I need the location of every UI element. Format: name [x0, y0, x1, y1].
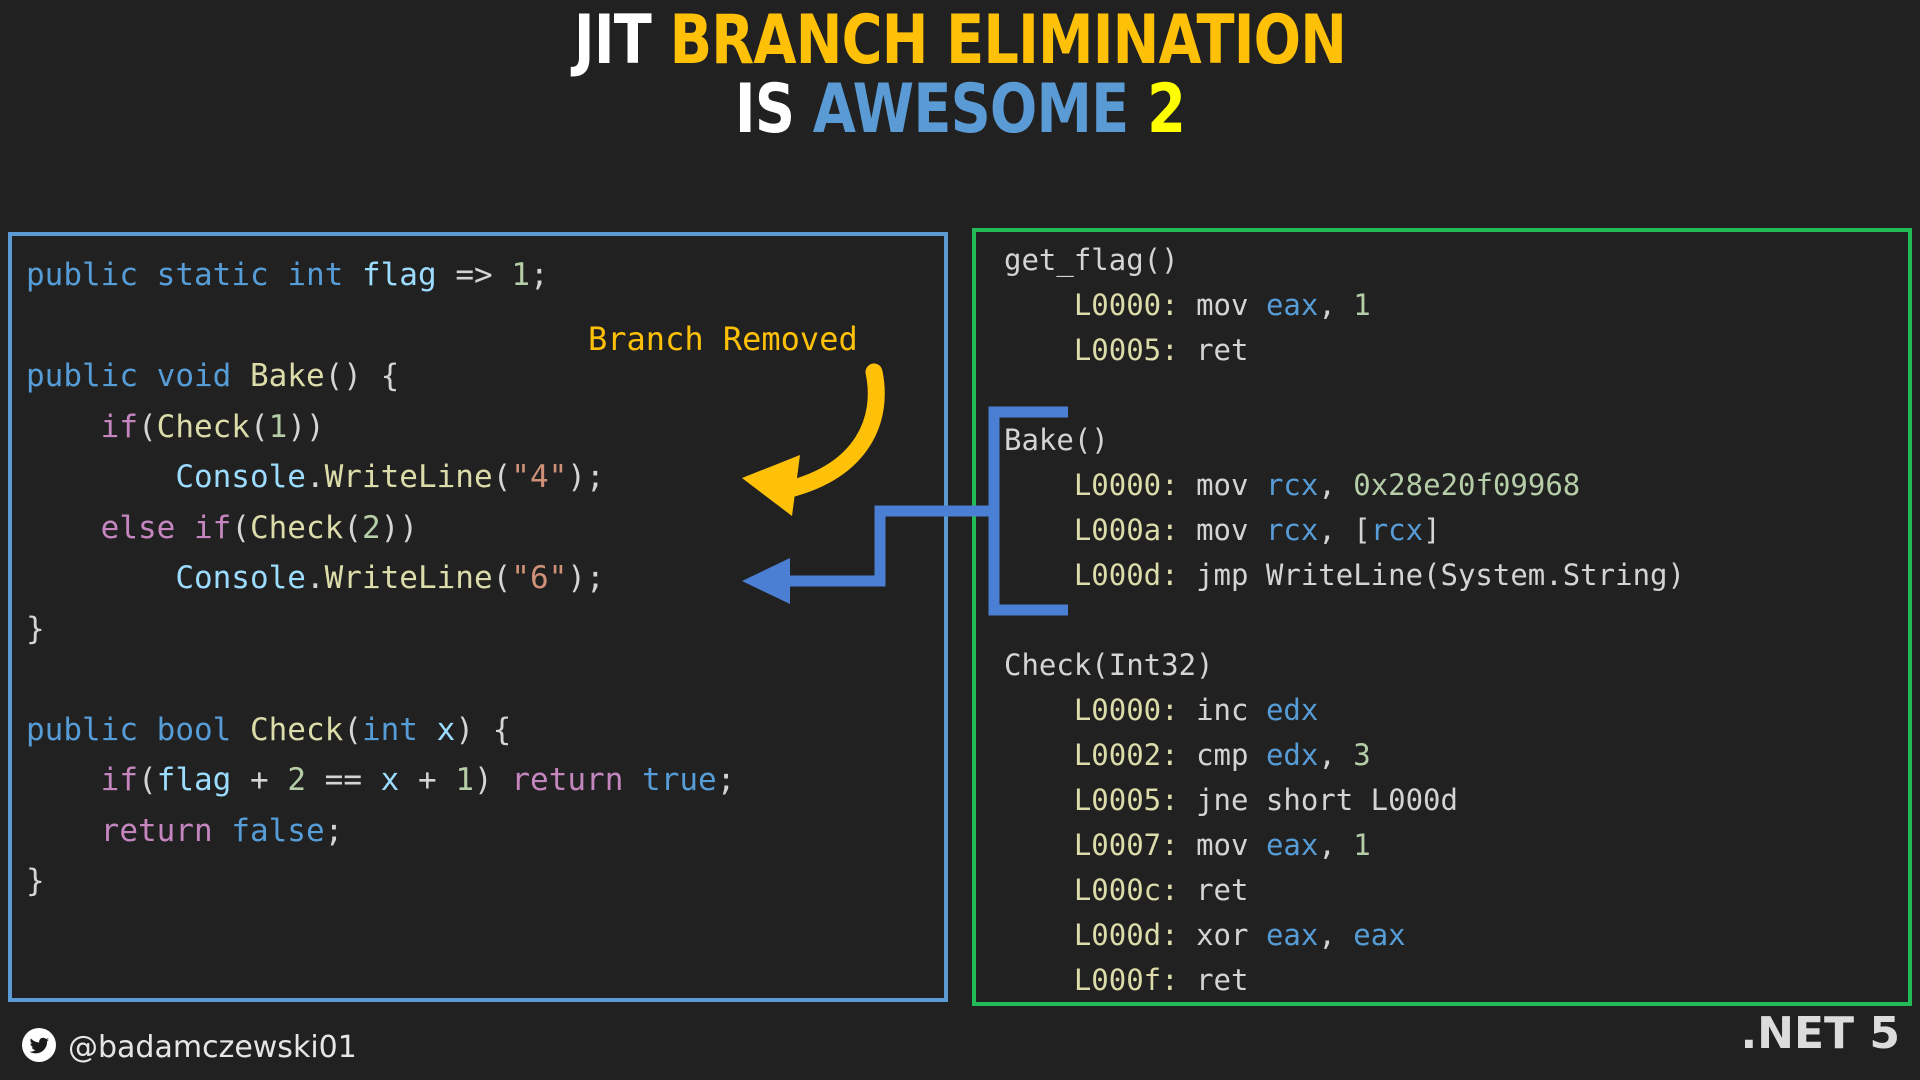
title-seg-awesome: AWESOME [813, 70, 1129, 149]
runtime-version-label: .NET 5 [1740, 1008, 1900, 1059]
title-seg-number: 2 [1147, 70, 1185, 149]
twitter-bird-icon [22, 1028, 56, 1066]
title-line-2: IS AWESOME 2 [173, 75, 1747, 144]
title-line-1: JIT BRANCH ELIMINATION [173, 6, 1747, 75]
twitter-handle[interactable]: @badamczewski01 [22, 1028, 357, 1066]
asm-disassembly-code: get_flag() L0000: mov eax, 1 L0005: ret … [1004, 238, 1685, 1003]
slide-root: JIT BRANCH ELIMINATION IS AWESOME 2 publ… [0, 0, 1920, 1080]
branch-removed-annotation: Branch Removed [588, 320, 858, 358]
twitter-handle-text: @badamczewski01 [68, 1030, 357, 1065]
slide-title: JIT BRANCH ELIMINATION IS AWESOME 2 [0, 6, 1920, 145]
title-seg-is: IS [735, 70, 794, 149]
title-seg-branch: BRANCH ELIMINATION [670, 1, 1346, 80]
title-seg-jit: JIT [574, 1, 651, 80]
asm-disassembly-panel: get_flag() L0000: mov eax, 1 L0005: ret … [972, 228, 1912, 1006]
